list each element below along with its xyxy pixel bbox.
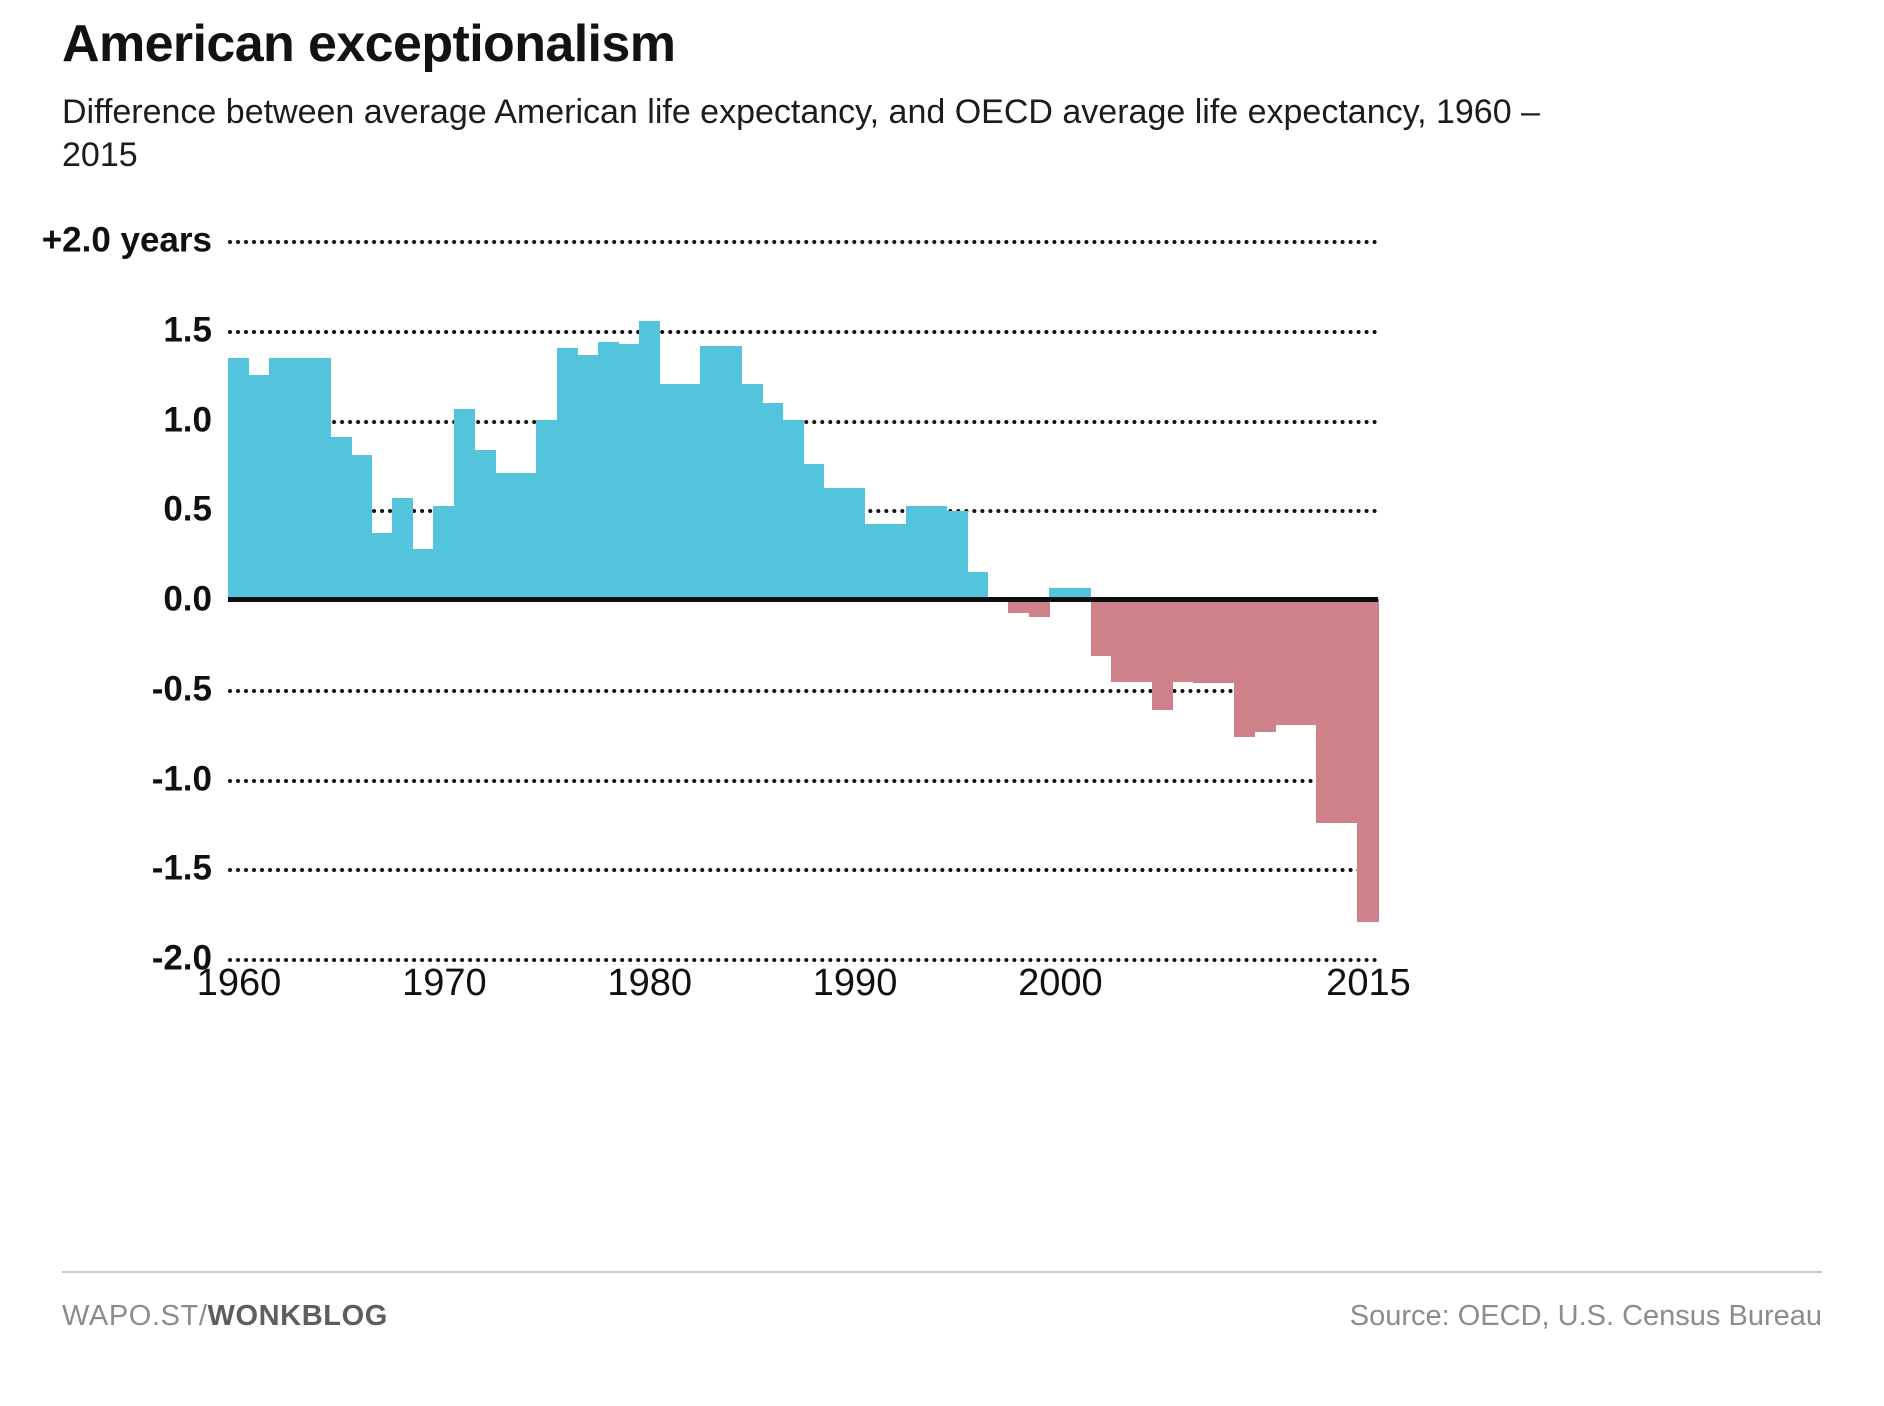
x-axis-tick-label: 2000 <box>1018 962 1103 1005</box>
bar <box>639 321 660 599</box>
bar <box>741 384 762 599</box>
bar <box>290 358 311 599</box>
credit-prefix: WAPO.ST/ <box>62 1300 208 1332</box>
bar <box>803 464 824 599</box>
bar <box>557 348 578 599</box>
bar <box>1132 599 1153 682</box>
x-axis-tick-label: 1980 <box>607 962 692 1005</box>
x-axis-tick-label: 1990 <box>813 962 898 1005</box>
bar <box>1316 599 1337 823</box>
bar <box>680 384 701 599</box>
x-axis-tick-label: 2015 <box>1326 962 1411 1005</box>
bar <box>454 409 475 599</box>
bar <box>1091 599 1112 656</box>
bar <box>351 455 372 599</box>
y-axis-tick-label: -1.5 <box>0 851 212 886</box>
chart-page: American exceptionalism Difference betwe… <box>0 0 1884 1406</box>
bar <box>598 342 619 599</box>
bar <box>495 473 516 599</box>
wapo-credit[interactable]: WAPO.ST/WONKBLOG <box>62 1300 388 1333</box>
x-axis-tick-label: 1970 <box>402 962 487 1005</box>
footer-divider <box>62 1271 1822 1273</box>
zero-baseline <box>228 597 1378 602</box>
bar <box>824 488 845 599</box>
y-axis-tick-label: 1.0 <box>0 402 212 437</box>
bar <box>1193 599 1214 683</box>
bar <box>967 572 988 599</box>
bar <box>700 346 721 599</box>
bar <box>906 506 927 599</box>
y-axis-tick-label: 0.0 <box>0 582 212 617</box>
bar <box>1275 599 1296 725</box>
chart-footer: WAPO.ST/WONKBLOG Source: OECD, U.S. Cens… <box>62 1300 1822 1348</box>
bar <box>392 498 413 599</box>
y-axis-tick-label: 1.5 <box>0 312 212 347</box>
y-axis-tick-label: -1.0 <box>0 761 212 796</box>
y-axis-tick-label: -0.5 <box>0 671 212 706</box>
bar <box>413 549 434 599</box>
chart-subtitle: Difference between average American life… <box>62 91 1542 177</box>
page-title: American exceptionalism <box>62 14 1832 75</box>
bar <box>782 420 803 600</box>
bar <box>228 358 249 599</box>
bar <box>1111 599 1132 682</box>
bar <box>947 511 968 599</box>
x-axis: 196019701980199020002015 <box>228 962 1378 1022</box>
bar <box>433 506 454 599</box>
bar <box>844 488 865 599</box>
bar <box>372 533 393 599</box>
bar <box>1296 599 1317 725</box>
plot-area <box>228 240 1378 958</box>
bar <box>331 437 352 599</box>
credit-brand: WONKBLOG <box>208 1300 388 1332</box>
bar <box>474 450 495 599</box>
x-axis-tick-label: 1960 <box>197 962 282 1005</box>
bar <box>516 473 537 599</box>
bar <box>762 403 783 599</box>
chart-header: American exceptionalism Difference betwe… <box>62 14 1832 177</box>
bar <box>536 420 557 600</box>
bar <box>865 524 886 599</box>
bar <box>1255 599 1276 732</box>
bar <box>577 355 598 599</box>
bar <box>885 524 906 599</box>
bar <box>1357 599 1378 922</box>
bar <box>249 375 270 599</box>
bar <box>721 346 742 599</box>
bar <box>926 506 947 599</box>
source-note: Source: OECD, U.S. Census Bureau <box>1350 1300 1822 1333</box>
y-axis-tick-label: +2.0 years <box>0 223 212 258</box>
bar <box>1152 599 1173 710</box>
bar <box>310 358 331 599</box>
bar <box>1173 599 1194 682</box>
bar <box>269 358 290 599</box>
bar <box>1337 599 1358 823</box>
bar <box>618 344 639 599</box>
bar <box>1234 599 1255 737</box>
y-axis-tick-label: -2.0 <box>0 941 212 976</box>
y-axis-tick-label: 0.5 <box>0 492 212 527</box>
bar <box>1214 599 1235 683</box>
bar <box>659 384 680 599</box>
